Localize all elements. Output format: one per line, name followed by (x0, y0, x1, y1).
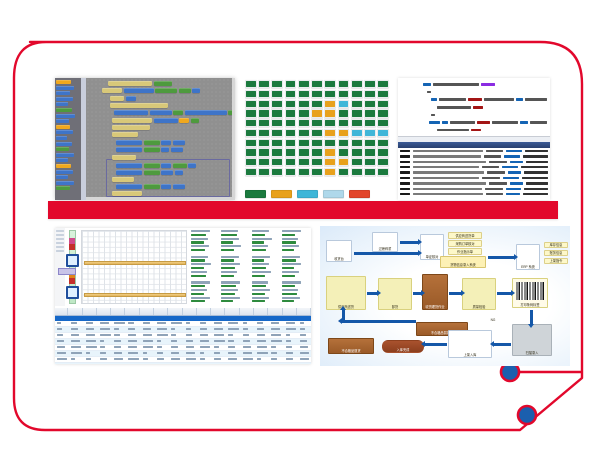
status-cell-3[interactable] (285, 80, 297, 88)
table-cell[interactable] (241, 363, 254, 364)
status-cell-101[interactable] (271, 168, 283, 176)
palette-block-6[interactable] (56, 114, 75, 118)
table-cell[interactable] (155, 321, 168, 326)
status-cell-63[interactable] (351, 129, 363, 137)
table-cell[interactable] (84, 321, 97, 326)
scheduler-gantt-grid[interactable] (81, 230, 187, 304)
status-cell-89[interactable] (258, 158, 270, 166)
status-cell-97[interactable] (364, 158, 376, 166)
block-row-14[interactable] (116, 184, 185, 189)
status-cell-68[interactable] (271, 139, 283, 147)
table-cell[interactable] (198, 327, 211, 332)
table-cell[interactable] (298, 351, 311, 356)
block-8-2[interactable] (161, 140, 171, 145)
table-cell[interactable] (269, 363, 282, 364)
palette-block-9[interactable] (56, 130, 73, 134)
status-cell-81[interactable] (298, 148, 310, 156)
table-cell[interactable] (298, 339, 311, 344)
status-cell-90[interactable] (271, 158, 283, 166)
table-column-header-8[interactable] (169, 308, 182, 315)
status-cell-54[interactable] (377, 119, 389, 127)
table-cell[interactable] (226, 345, 239, 350)
status-cell-61[interactable] (324, 129, 336, 137)
table-cell[interactable] (126, 345, 139, 350)
status-cell-72[interactable] (324, 139, 336, 147)
table-cell[interactable] (98, 363, 111, 364)
table-cell[interactable] (55, 357, 68, 362)
palette-block-0[interactable] (56, 80, 71, 84)
block-12-0[interactable] (116, 170, 142, 175)
table-cell[interactable] (212, 321, 225, 326)
status-cell-62[interactable] (338, 129, 350, 137)
status-cell-66[interactable] (245, 139, 257, 147)
table-cell[interactable] (255, 333, 268, 338)
table-column-header-14[interactable] (255, 308, 268, 315)
table-header-row[interactable] (55, 308, 311, 316)
status-cell-23[interactable] (258, 100, 270, 108)
table-cell[interactable] (198, 321, 211, 326)
log-row-6[interactable] (400, 182, 548, 185)
table-column-header-11[interactable] (212, 308, 225, 315)
status-cell-9[interactable] (364, 80, 376, 88)
table-cell[interactable] (126, 327, 139, 332)
table-cell[interactable] (126, 357, 139, 362)
table-cell[interactable] (226, 333, 239, 338)
log-row-1[interactable] (400, 155, 548, 158)
code-editor-area[interactable] (398, 78, 550, 136)
table-cell[interactable] (298, 327, 311, 332)
status-cell-40[interactable] (338, 109, 350, 117)
block-8-3[interactable] (173, 140, 185, 145)
status-cell-84[interactable] (338, 148, 350, 156)
table-cell[interactable] (212, 345, 225, 350)
table-cell[interactable] (226, 321, 239, 326)
table-cell[interactable] (184, 351, 197, 356)
table-column-header-4[interactable] (112, 308, 125, 315)
table-cell[interactable] (141, 351, 154, 356)
status-cell-58[interactable] (285, 129, 297, 137)
scheduler-toolbar-item-2[interactable] (56, 238, 64, 240)
table-column-header-6[interactable] (141, 308, 154, 315)
block-4-0[interactable] (114, 110, 148, 115)
status-cell-15[interactable] (298, 90, 310, 98)
scheduler-toolbar-item-4[interactable] (56, 246, 64, 248)
block-11-4[interactable] (188, 163, 196, 168)
status-cell-13[interactable] (271, 90, 283, 98)
table-cell[interactable] (212, 363, 225, 364)
block-row-11[interactable] (116, 163, 196, 168)
block-0-0[interactable] (108, 81, 152, 86)
table-cell[interactable] (184, 327, 197, 332)
table-cell[interactable] (284, 327, 297, 332)
table-cell[interactable] (255, 363, 268, 364)
palette-block-15[interactable] (56, 164, 71, 168)
blocks-horizontal-scrollbar[interactable] (86, 197, 235, 200)
status-cell-74[interactable] (351, 139, 363, 147)
table-cell[interactable] (284, 351, 297, 356)
scheduler-toolbar-item-0[interactable] (56, 230, 64, 232)
status-cell-86[interactable] (364, 148, 376, 156)
palette-block-11[interactable] (56, 142, 72, 146)
panel-blocks-editor[interactable] (55, 78, 235, 200)
table-cell[interactable] (112, 321, 125, 326)
table-cell[interactable] (98, 333, 111, 338)
table-cell[interactable] (269, 357, 282, 362)
table-cell[interactable] (255, 351, 268, 356)
flow-node-putaway[interactable]: 上架入库 (448, 330, 492, 358)
table-cell[interactable] (255, 321, 268, 326)
block-1-4[interactable] (192, 88, 200, 93)
status-cell-50[interactable] (324, 119, 336, 127)
table-cell[interactable] (226, 351, 239, 356)
status-cell-73[interactable] (338, 139, 350, 147)
table-cell[interactable] (69, 321, 82, 326)
block-row-5[interactable] (112, 118, 199, 123)
table-cell[interactable] (55, 351, 68, 356)
block-2-0[interactable] (110, 96, 124, 101)
scheduler-milestone-flag-1[interactable] (69, 244, 75, 250)
palette-block-8[interactable] (56, 125, 70, 129)
panel-scheduler[interactable] (55, 228, 311, 364)
table-cell[interactable] (184, 321, 197, 326)
flow-node-receiving-desk[interactable]: 收货台 (326, 240, 352, 262)
status-grid-table[interactable] (245, 80, 389, 176)
block-row-8[interactable] (116, 140, 185, 145)
status-cell-10[interactable] (377, 80, 389, 88)
table-cell[interactable] (69, 333, 82, 338)
status-cell-29[interactable] (338, 100, 350, 108)
palette-block-1[interactable] (56, 86, 74, 90)
scheduler-row-tag-0[interactable] (58, 268, 76, 275)
table-cell[interactable] (198, 357, 211, 362)
table-column-header-10[interactable] (198, 308, 211, 315)
status-cell-103[interactable] (298, 168, 310, 176)
block-row-10[interactable] (112, 155, 136, 160)
table-column-header-5[interactable] (126, 308, 139, 315)
table-cell[interactable] (269, 345, 282, 350)
block-1-1[interactable] (124, 88, 154, 93)
table-cell[interactable] (69, 339, 82, 344)
block-row-13[interactable] (112, 177, 134, 182)
scheduler-milestone-flag-3[interactable] (69, 278, 75, 284)
block-row-7[interactable] (112, 132, 138, 137)
block-row-4[interactable] (114, 110, 235, 115)
table-cell[interactable] (241, 351, 254, 356)
table-cell[interactable] (269, 351, 282, 356)
block-11-3[interactable] (173, 163, 187, 168)
status-cell-92[interactable] (298, 158, 310, 166)
status-cell-64[interactable] (364, 129, 376, 137)
table-cell[interactable] (55, 345, 68, 350)
block-7-0[interactable] (112, 132, 138, 137)
table-column-header-9[interactable] (184, 308, 197, 315)
block-8-0[interactable] (116, 140, 142, 145)
status-cell-98[interactable] (377, 158, 389, 166)
table-cell[interactable] (169, 321, 182, 326)
scheduler-mini-toolbar[interactable] (55, 228, 65, 306)
block-9-1[interactable] (144, 147, 160, 152)
palette-block-13[interactable] (56, 153, 74, 157)
palette-block-18[interactable] (56, 181, 74, 185)
log-row-0[interactable] (400, 150, 548, 153)
flow-node-erp-note-3[interactable]: 上架指令 (544, 258, 568, 264)
block-11-2[interactable] (161, 163, 171, 168)
table-column-header-16[interactable] (284, 308, 297, 315)
blocks-palette[interactable] (55, 78, 81, 200)
palette-block-12[interactable] (56, 147, 69, 151)
log-row-5[interactable] (400, 176, 548, 179)
table-cell[interactable] (269, 321, 282, 326)
status-cell-41[interactable] (351, 109, 363, 117)
table-cell[interactable] (155, 357, 168, 362)
status-cell-39[interactable] (324, 109, 336, 117)
table-cell[interactable] (141, 345, 154, 350)
table-cell[interactable] (169, 351, 182, 356)
status-cell-11[interactable] (245, 90, 257, 98)
flow-node-weighing-station[interactable]: 过磅称重 (372, 232, 398, 252)
block-row-6[interactable] (112, 125, 150, 130)
table-column-header-3[interactable] (98, 308, 111, 315)
flow-node-quality-inspection[interactable]: 质量检验 (462, 278, 496, 310)
log-row-2[interactable] (400, 160, 548, 163)
table-cell[interactable] (126, 339, 139, 344)
block-row-12[interactable] (116, 170, 183, 175)
table-cell[interactable] (198, 339, 211, 344)
gantt-bar-0[interactable] (84, 261, 186, 265)
flow-node-ng-mark[interactable]: NG (488, 316, 498, 322)
block-4-3[interactable] (185, 110, 227, 115)
table-cell[interactable] (269, 327, 282, 332)
status-cell-107[interactable] (351, 168, 363, 176)
flow-node-erp-system[interactable]: ERP 系统 (516, 244, 540, 270)
flow-node-tally-operation[interactable]: 收货理货作业 (422, 274, 448, 310)
block-12-2[interactable] (161, 170, 173, 175)
table-cell[interactable] (255, 339, 268, 344)
table-cell[interactable] (55, 327, 68, 332)
status-cell-79[interactable] (271, 148, 283, 156)
table-cell[interactable] (112, 357, 125, 362)
block-row-2[interactable] (110, 96, 136, 101)
status-cell-47[interactable] (285, 119, 297, 127)
table-cell[interactable] (284, 339, 297, 344)
blocks-vertical-scrollbar[interactable] (232, 78, 235, 200)
status-cell-56[interactable] (258, 129, 270, 137)
status-cell-7[interactable] (338, 80, 350, 88)
table-cell[interactable] (269, 339, 282, 344)
table-cell[interactable] (84, 363, 97, 364)
scheduler-note-columns[interactable] (191, 230, 309, 304)
status-cell-49[interactable] (311, 119, 323, 127)
status-cell-42[interactable] (364, 109, 376, 117)
status-cell-53[interactable] (364, 119, 376, 127)
table-row[interactable] (55, 363, 311, 364)
flow-node-inbound-complete[interactable]: 入库完成 (382, 340, 424, 353)
table-cell[interactable] (169, 339, 182, 344)
log-row-7[interactable] (400, 187, 548, 190)
status-cell-35[interactable] (271, 109, 283, 117)
status-cell-34[interactable] (258, 109, 270, 117)
palette-block-4[interactable] (56, 102, 68, 106)
block-1-3[interactable] (179, 88, 191, 93)
status-cell-95[interactable] (338, 158, 350, 166)
table-cell[interactable] (255, 327, 268, 332)
status-cell-8[interactable] (351, 80, 363, 88)
table-cell[interactable] (98, 339, 111, 344)
status-cell-18[interactable] (338, 90, 350, 98)
flow-node-notice-card-1[interactable]: 供应商送货单 (448, 232, 482, 239)
block-12-1[interactable] (144, 170, 160, 175)
table-cell[interactable] (55, 363, 68, 364)
table-cell[interactable] (298, 357, 311, 362)
table-cell[interactable] (284, 321, 297, 326)
block-5-2[interactable] (179, 118, 189, 123)
blocks-canvas[interactable] (86, 78, 235, 200)
flow-node-notice-card-3[interactable]: 作业指示单 (448, 248, 482, 255)
status-cell-1[interactable] (258, 80, 270, 88)
block-8-1[interactable] (144, 140, 160, 145)
block-12-3[interactable] (175, 170, 183, 175)
block-1-2[interactable] (155, 88, 177, 93)
status-cell-94[interactable] (324, 158, 336, 166)
status-cell-83[interactable] (324, 148, 336, 156)
panel-code-ide[interactable] (398, 78, 550, 200)
status-cell-60[interactable] (311, 129, 323, 137)
table-cell[interactable] (112, 327, 125, 332)
status-cell-16[interactable] (311, 90, 323, 98)
table-cell[interactable] (126, 363, 139, 364)
block-row-9[interactable] (116, 147, 183, 152)
table-cell[interactable] (198, 333, 211, 338)
table-cell[interactable] (169, 357, 182, 362)
status-cell-28[interactable] (324, 100, 336, 108)
block-11-0[interactable] (116, 163, 142, 168)
block-6-0[interactable] (112, 125, 150, 130)
table-cell[interactable] (298, 345, 311, 350)
table-cell[interactable] (284, 357, 297, 362)
table-cell[interactable] (84, 345, 97, 350)
table-cell[interactable] (212, 351, 225, 356)
flow-node-scan-entry[interactable]: 扫描录入 (512, 324, 552, 356)
status-cell-36[interactable] (285, 109, 297, 117)
status-cell-78[interactable] (258, 148, 270, 156)
table-cell[interactable] (284, 333, 297, 338)
status-cell-57[interactable] (271, 129, 283, 137)
table-cell[interactable] (126, 333, 139, 338)
palette-block-16[interactable] (56, 170, 73, 174)
status-cell-4[interactable] (298, 80, 310, 88)
block-14-2[interactable] (161, 184, 171, 189)
block-2-1[interactable] (126, 96, 136, 101)
table-cell[interactable] (98, 351, 111, 356)
table-cell[interactable] (241, 333, 254, 338)
status-cell-48[interactable] (298, 119, 310, 127)
table-column-header-1[interactable] (69, 308, 82, 315)
log-row-8[interactable] (400, 193, 548, 196)
status-cell-20[interactable] (364, 90, 376, 98)
table-cell[interactable] (184, 357, 197, 362)
table-cell[interactable] (126, 351, 139, 356)
table-cell[interactable] (226, 327, 239, 332)
table-cell[interactable] (226, 339, 239, 344)
table-cell[interactable] (141, 321, 154, 326)
status-cell-65[interactable] (377, 129, 389, 137)
table-cell[interactable] (84, 357, 97, 362)
table-cell[interactable] (155, 333, 168, 338)
table-cell[interactable] (241, 327, 254, 332)
status-cell-102[interactable] (285, 168, 297, 176)
flow-node-supplier-delivery[interactable]: 供应商送货 (326, 276, 366, 310)
status-cell-100[interactable] (258, 168, 270, 176)
table-cell[interactable] (84, 339, 97, 344)
table-column-header-2[interactable] (84, 308, 97, 315)
status-cell-21[interactable] (377, 90, 389, 98)
block-4-1[interactable] (150, 110, 172, 115)
status-cell-55[interactable] (245, 129, 257, 137)
block-4-2[interactable] (173, 110, 183, 115)
palette-block-14[interactable] (56, 158, 68, 162)
palette-block-7[interactable] (56, 119, 69, 123)
status-cell-69[interactable] (285, 139, 297, 147)
status-cell-106[interactable] (338, 168, 350, 176)
gantt-bar-1[interactable] (84, 293, 186, 297)
table-cell[interactable] (184, 333, 197, 338)
status-cell-14[interactable] (285, 90, 297, 98)
table-cell[interactable] (69, 363, 82, 364)
block-10-0[interactable] (112, 155, 136, 160)
table-cell[interactable] (169, 345, 182, 350)
flow-node-unloading[interactable]: 卸货 (378, 278, 412, 310)
table-cell[interactable] (155, 327, 168, 332)
table-cell[interactable] (198, 351, 211, 356)
table-cell[interactable] (169, 363, 182, 364)
table-cell[interactable] (212, 333, 225, 338)
status-cell-51[interactable] (338, 119, 350, 127)
status-cell-24[interactable] (271, 100, 283, 108)
flow-node-print-barcode[interactable]: 打印条码标签 (512, 278, 548, 308)
status-cell-44[interactable] (245, 119, 257, 127)
table-cell[interactable] (184, 339, 197, 344)
status-cell-27[interactable] (311, 100, 323, 108)
flow-node-erp-note-2[interactable]: 账务信息 (544, 250, 568, 256)
log-row-3[interactable] (400, 166, 548, 169)
block-9-2[interactable] (161, 147, 169, 152)
status-cell-67[interactable] (258, 139, 270, 147)
status-cell-80[interactable] (285, 148, 297, 156)
table-cell[interactable] (212, 327, 225, 332)
table-column-header-13[interactable] (241, 308, 254, 315)
table-cell[interactable] (141, 333, 154, 338)
status-cell-2[interactable] (271, 80, 283, 88)
status-cell-52[interactable] (351, 119, 363, 127)
status-cell-32[interactable] (377, 100, 389, 108)
palette-block-19[interactable] (56, 186, 70, 190)
table-cell[interactable] (226, 357, 239, 362)
block-0-1[interactable] (154, 81, 172, 86)
table-cell[interactable] (212, 357, 225, 362)
scheduler-note-column-2[interactable] (252, 230, 279, 307)
table-cell[interactable] (298, 321, 311, 326)
table-cell[interactable] (298, 333, 311, 338)
status-cell-88[interactable] (245, 158, 257, 166)
status-cell-22[interactable] (245, 100, 257, 108)
table-cell[interactable] (55, 339, 68, 344)
scheduler-toolbar-item-1[interactable] (56, 234, 64, 236)
status-cell-31[interactable] (364, 100, 376, 108)
flow-node-system-entry[interactable]: 货物信息录入系统 (440, 256, 486, 268)
scheduler-node-0[interactable] (66, 254, 79, 267)
status-cell-59[interactable] (298, 129, 310, 137)
block-row-1[interactable] (102, 88, 200, 93)
